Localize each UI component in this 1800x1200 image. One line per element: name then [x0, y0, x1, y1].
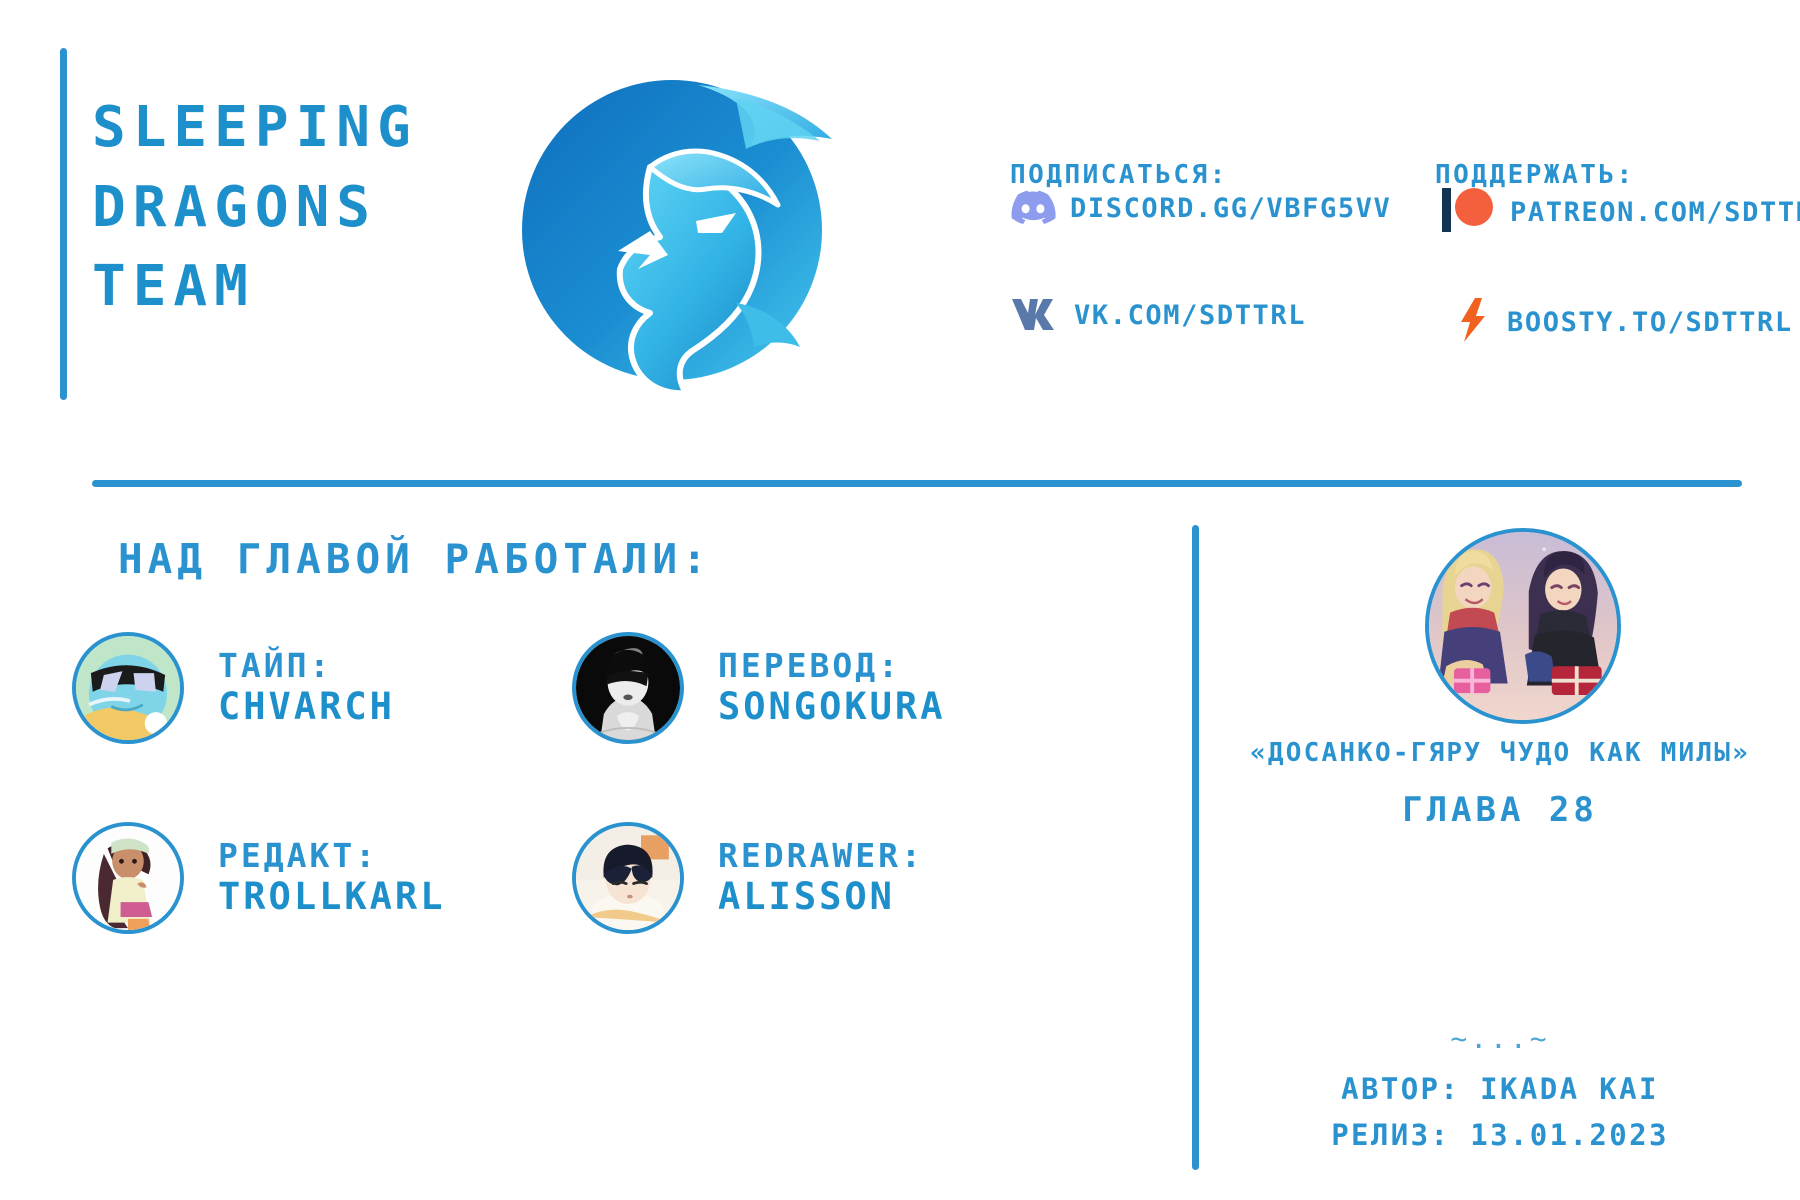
- social-link-vk[interactable]: VK.COM/SDTTRL: [1010, 296, 1306, 335]
- credit-name: ALISSON: [718, 875, 895, 918]
- anime-boy-desk-avatar: [572, 822, 684, 934]
- vk-icon: [1010, 296, 1060, 335]
- credit-role: ПЕРЕВОД:: [718, 646, 901, 685]
- brand-line-1: SLEEPING: [92, 88, 512, 168]
- girl-goggles-avatar: [72, 822, 184, 934]
- horizontal-divider: [92, 480, 1742, 487]
- dark-anime-boy-avatar: [572, 632, 684, 744]
- credit-entry-translate: ПЕРЕВОД: SONGOKURA: [572, 632, 945, 744]
- credits-page: SLEEPING DRAGONS TEAM: [0, 0, 1800, 1200]
- vk-link-label: VK.COM/SDTTRL: [1074, 300, 1306, 331]
- social-link-discord[interactable]: DISCORD.GG/VBFG5VV: [1010, 188, 1391, 229]
- manga-release-date: РЕЛИЗ: 13.01.2023: [1205, 1118, 1795, 1152]
- credits-heading: НАД ГЛАВОЙ РАБОТАЛИ:: [118, 535, 712, 583]
- social-link-boosty[interactable]: BOOSTY.TO/SDTTRL: [1455, 296, 1793, 349]
- boosty-link-label: BOOSTY.TO/SDTTRL: [1507, 307, 1793, 338]
- credit-entry-redraw: REDRAWER: ALISSON: [572, 822, 924, 934]
- credit-entry-edit: РЕДАКТ: TROLLKARL: [72, 822, 445, 934]
- vertical-divider: [1192, 525, 1199, 1170]
- brand-wordmark: SLEEPING DRAGONS TEAM: [92, 88, 512, 327]
- credit-name: CHVARCH: [218, 685, 395, 728]
- boosty-icon: [1455, 296, 1493, 349]
- brand-line-3: TEAM: [92, 247, 512, 327]
- credit-name: TROLLKARL: [218, 875, 445, 918]
- subscribe-heading: ПОДПИСАТЬСЯ:: [1010, 160, 1228, 190]
- manga-title: «ДОСАНКО-ГЯРУ ЧУДО КАК МИЛЫ»: [1205, 738, 1795, 768]
- two-anime-girls-with-gifts-cover-icon: [1425, 528, 1621, 724]
- discord-link-label: DISCORD.GG/VBFG5VV: [1070, 193, 1391, 224]
- brand-line-2: DRAGONS: [92, 168, 512, 248]
- ornament-divider: ~...~: [1205, 1022, 1795, 1055]
- discord-icon: [1010, 188, 1056, 229]
- credit-role: REDRAWER:: [718, 836, 924, 875]
- credit-entry-type: ТАЙП: CHVARCH: [72, 632, 395, 744]
- credit-role: РЕДАКТ:: [218, 836, 378, 875]
- credit-role: ТАЙП:: [218, 646, 332, 685]
- patreon-icon: [1440, 186, 1496, 239]
- social-link-patreon[interactable]: PATREON.COM/SDTTRL: [1440, 186, 1800, 239]
- squirtle-sunglasses-avatar: [72, 632, 184, 744]
- patreon-link-label: PATREON.COM/SDTTRL: [1510, 197, 1800, 228]
- credit-name: SONGOKURA: [718, 685, 945, 728]
- manga-author: АВТОР: IKADA KAI: [1205, 1072, 1795, 1106]
- dragon-head-logo-icon: [500, 55, 840, 405]
- brand-accent-bar: [60, 48, 67, 400]
- manga-chapter: ГЛАВА 28: [1205, 790, 1795, 830]
